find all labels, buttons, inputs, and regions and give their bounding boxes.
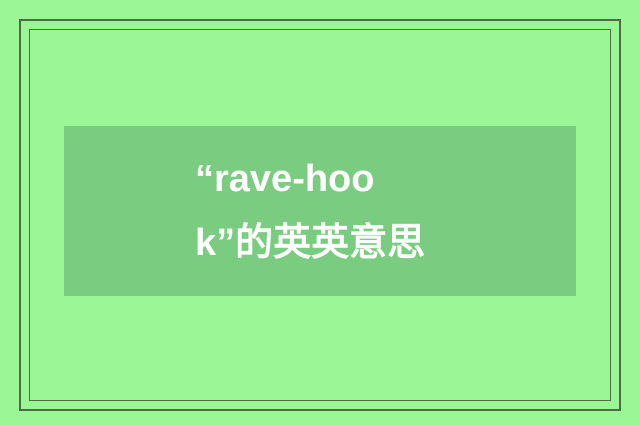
page-root: “rave-hook”的英英意思 xyxy=(0,0,640,425)
title-card: “rave-hook”的英英意思 xyxy=(64,126,576,296)
page-title: “rave-hook”的英英意思 xyxy=(195,147,445,275)
